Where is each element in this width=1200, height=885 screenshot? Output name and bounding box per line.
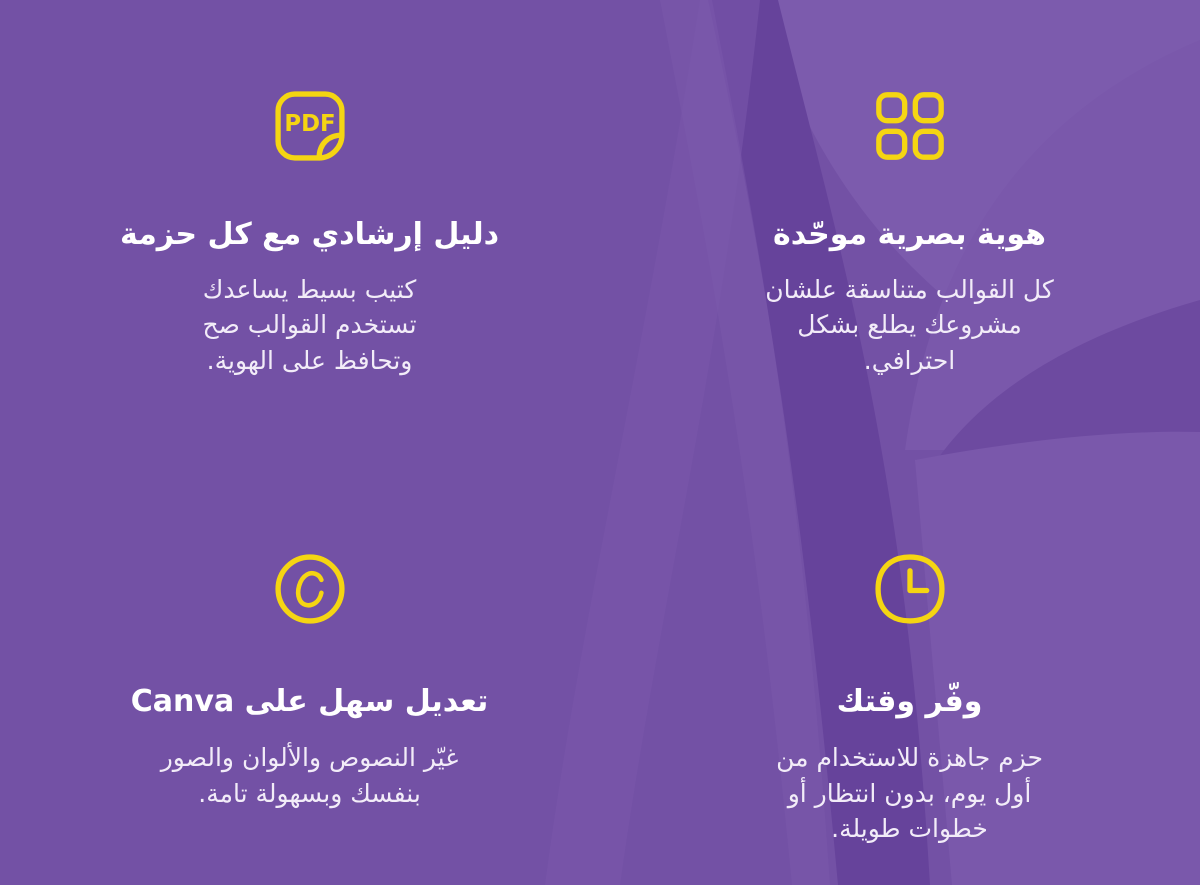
svg-text:PDF: PDF [284, 111, 335, 137]
grid-four-squares-icon [872, 88, 948, 164]
feature-card-canva: تعديل سهل على Canva غيّر النصوص والألوان… [0, 443, 619, 885]
feature-description: غيّر النصوص والألوان والصور بنفسك وبسهول… [155, 740, 465, 811]
feature-description: كل القوالب متناسقة علشان مشروعك يطلع بشك… [765, 272, 1055, 379]
features-grid: هوية بصرية موحّدة كل القوالب متناسقة علش… [0, 0, 1200, 885]
feature-title: هوية بصرية موحّدة [773, 216, 1046, 254]
features-poster: هوية بصرية موحّدة كل القوالب متناسقة علش… [0, 0, 1200, 885]
feature-card-guide: PDF دليل إرشادي مع كل حزمة كتيب بسيط يسا… [0, 0, 619, 443]
feature-title: وفّر وقتك [837, 683, 983, 721]
feature-title: تعديل سهل على Canva [131, 683, 489, 721]
feature-card-identity: هوية بصرية موحّدة كل القوالب متناسقة علش… [619, 0, 1200, 443]
feature-description: حزم جاهزة للاستخدام من أول يوم، بدون انت… [755, 740, 1065, 847]
pdf-document-icon: PDF [272, 88, 348, 164]
canva-circle-icon [272, 551, 348, 627]
clock-square-icon [872, 551, 948, 627]
feature-card-time: وفّر وقتك حزم جاهزة للاستخدام من أول يوم… [619, 443, 1200, 885]
feature-description: كتيب بسيط يساعدك تستخدم القوالب صح وتحاف… [160, 272, 460, 379]
feature-title: دليل إرشادي مع كل حزمة [120, 216, 499, 254]
